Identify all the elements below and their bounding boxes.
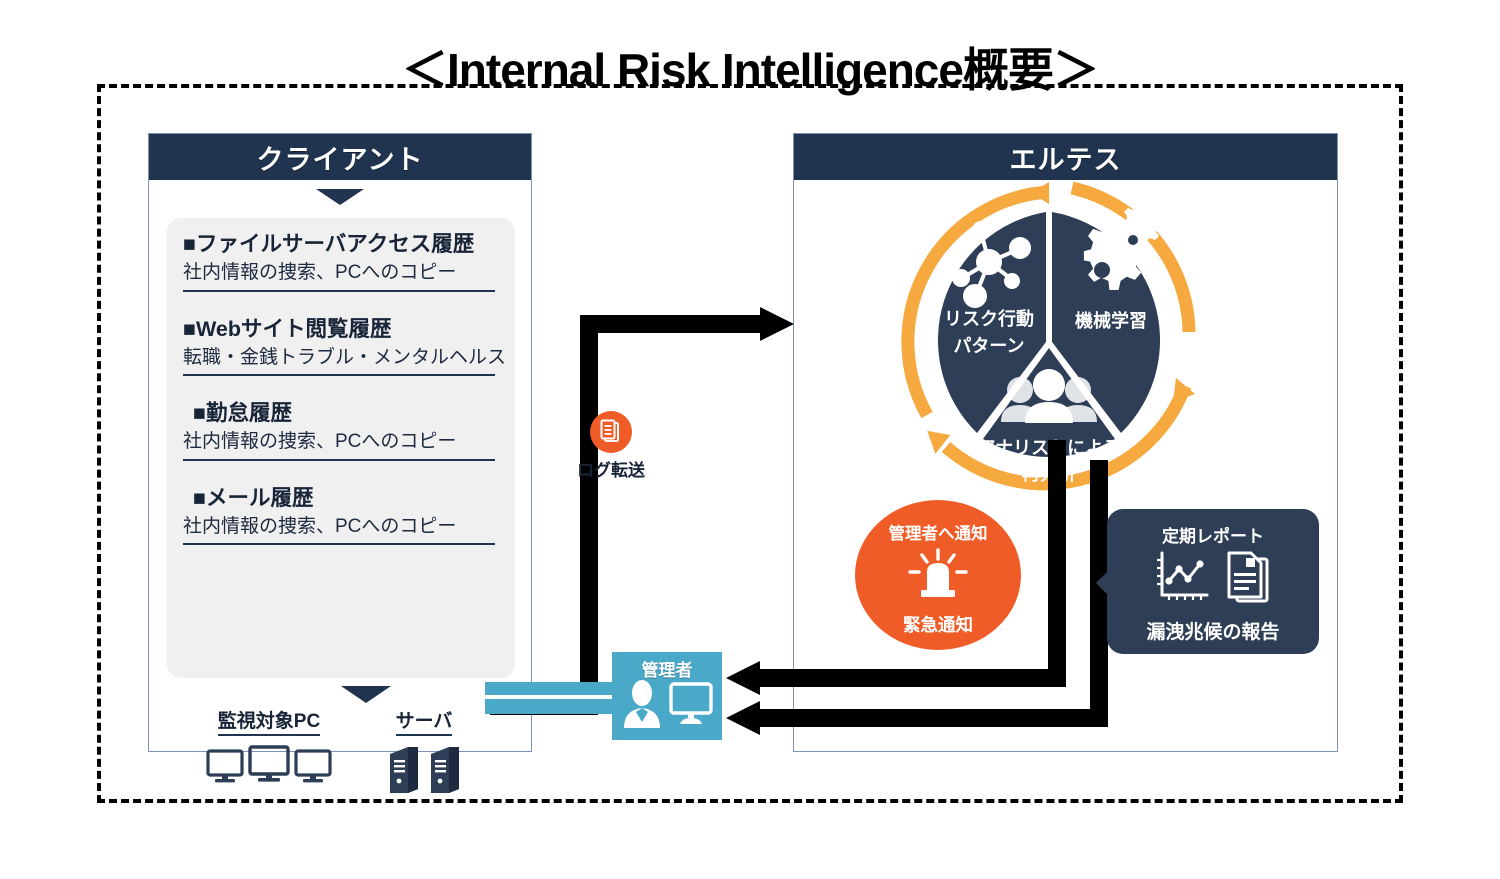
log-item-sub: 転職・金銭トラブル・メンタルヘルス bbox=[183, 345, 495, 377]
network-cable bbox=[485, 682, 625, 714]
client-log-list: ■ファイルサーバアクセス履歴 社内情報の捜索、PCへのコピー ■Webサイト閲覧… bbox=[167, 218, 515, 678]
server-icon bbox=[428, 744, 462, 801]
report-bottom-label: 漏洩兆候の報告 bbox=[1107, 617, 1319, 644]
document-transfer-icon bbox=[590, 411, 632, 453]
siren-icon bbox=[902, 548, 974, 609]
log-item-title: ■メール履歴 bbox=[183, 484, 499, 513]
monitored-pc-group: 監視対象PC bbox=[189, 706, 349, 789]
alert-top-label: 管理者へ通知 bbox=[855, 520, 1021, 544]
server-group: サーバ bbox=[364, 706, 484, 801]
client-panel-header: クライアント bbox=[149, 134, 531, 180]
cycle-label-left-line2: パターン bbox=[953, 336, 1024, 356]
log-item-sub: 社内情報の捜索、PCへのコピー bbox=[183, 429, 495, 461]
administrator-box: 管理者 bbox=[612, 652, 722, 740]
list-item: ■Webサイト閲覧履歴 転職・金銭トラブル・メンタルヘルス bbox=[183, 315, 499, 377]
monitored-pc-label: 監視対象PC bbox=[218, 706, 320, 736]
cycle-label-bottom-line2: 再分析 bbox=[1022, 463, 1076, 484]
eltes-panel-header: エルテス bbox=[794, 134, 1337, 180]
cycle-label-bottom-line1: アナリストによる bbox=[977, 438, 1120, 458]
server-label: サーバ bbox=[396, 706, 453, 736]
diagram-canvas: ＜Internal Risk Intelligence概要＞ クライアント ■フ… bbox=[0, 0, 1500, 879]
monitor-icon bbox=[294, 748, 332, 789]
log-transfer-label: ログ転送 bbox=[556, 456, 666, 481]
urgent-alert-bubble: 管理者へ通知 緊急通知 bbox=[855, 500, 1021, 650]
line-chart-icon bbox=[1153, 549, 1211, 610]
analysis-cycle-diagram: リスク行動 パターン 機械学習 アナリストによる 再分析 bbox=[889, 182, 1209, 502]
log-item-title: ■Webサイト閲覧履歴 bbox=[183, 315, 499, 344]
report-top-label: 定期レポート bbox=[1107, 522, 1319, 547]
alert-bottom-label: 緊急通知 bbox=[855, 612, 1021, 637]
monitor-icon bbox=[206, 748, 244, 789]
eltes-panel: エルテス bbox=[793, 133, 1338, 752]
log-transfer-marker: ログ転送 bbox=[556, 411, 666, 481]
list-item: ■勤怠履歴 社内情報の捜索、PCへのコピー bbox=[183, 399, 499, 461]
cycle-label-right-line1: 機械学習 bbox=[1075, 310, 1147, 331]
client-panel: クライアント ■ファイルサーバアクセス履歴 社内情報の捜索、PCへのコピー ■W… bbox=[148, 133, 532, 752]
caret-down-icon bbox=[316, 189, 364, 205]
log-item-sub: 社内情報の捜索、PCへのコピー bbox=[183, 260, 495, 292]
periodic-report-box: 定期レポート bbox=[1107, 509, 1319, 654]
document-stack-icon bbox=[1223, 549, 1273, 610]
list-item: ■メール履歴 社内情報の捜索、PCへのコピー bbox=[183, 484, 499, 546]
log-item-title: ■ファイルサーバアクセス履歴 bbox=[183, 230, 499, 259]
log-item-title: ■勤怠履歴 bbox=[183, 399, 499, 428]
monitor-icon bbox=[248, 744, 290, 789]
log-item-sub: 社内情報の捜索、PCへのコピー bbox=[183, 514, 495, 546]
caret-down-icon bbox=[341, 686, 391, 703]
server-icon bbox=[387, 744, 421, 801]
monitor-icon bbox=[667, 680, 715, 733]
cycle-label-left-line1: リスク行動 bbox=[944, 308, 1034, 329]
person-icon bbox=[619, 678, 665, 735]
list-item: ■ファイルサーバアクセス履歴 社内情報の捜索、PCへのコピー bbox=[183, 230, 499, 292]
